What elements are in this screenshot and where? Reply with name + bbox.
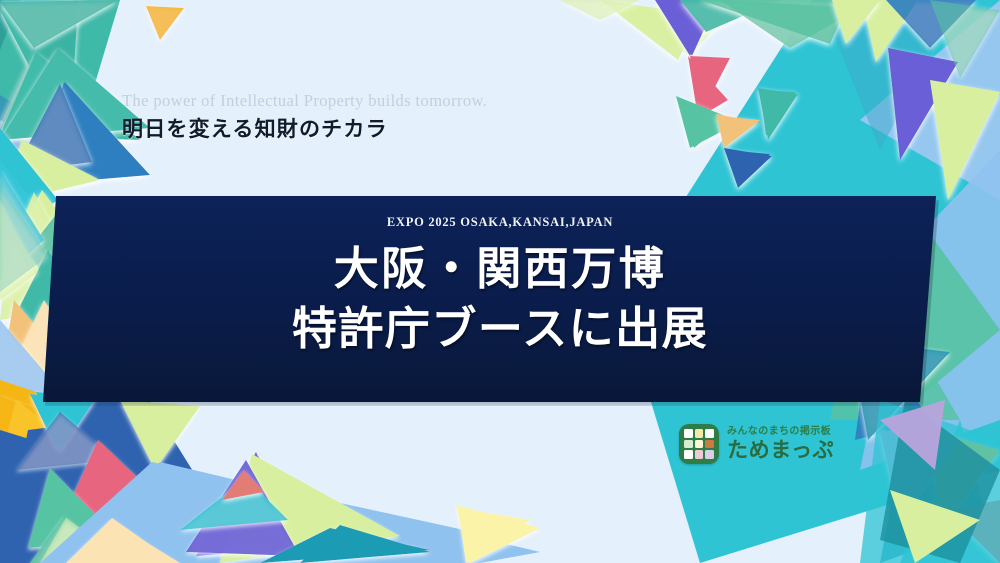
tagline-japanese: 明日を変える知財のチカラ bbox=[122, 115, 487, 142]
icon-tile bbox=[695, 429, 704, 438]
banner-headline: 大阪・関西万博 特許庁ブースに出展 bbox=[292, 239, 708, 359]
headline-line-1: 大阪・関西万博 bbox=[292, 239, 708, 299]
icon-tile bbox=[684, 429, 693, 438]
icon-tile bbox=[684, 450, 693, 459]
icon-tile bbox=[705, 429, 714, 438]
promo-banner-canvas: The power of Intellectual Property build… bbox=[0, 0, 1000, 563]
icon-tile bbox=[705, 440, 714, 449]
logo-wordmark: ためまっぷ bbox=[727, 438, 834, 462]
icon-tile bbox=[695, 440, 704, 449]
tagline-english: The power of Intellectual Property build… bbox=[122, 90, 487, 112]
icon-tile bbox=[705, 450, 714, 459]
banner-content: EXPO 2025 OSAKA,KANSAI,JAPAN 大阪・関西万博 特許庁… bbox=[0, 196, 1000, 402]
tamemap-logo[interactable]: みんなのまちの掲示板 ためまっぷ bbox=[679, 424, 834, 464]
logo-subtitle: みんなのまちの掲示板 bbox=[727, 426, 834, 437]
tamemap-app-icon bbox=[679, 424, 719, 464]
logo-text-block: みんなのまちの掲示板 ためまっぷ bbox=[727, 426, 834, 462]
tagline-block: The power of Intellectual Property build… bbox=[122, 90, 487, 143]
expo-eyebrow-text: EXPO 2025 OSAKA,KANSAI,JAPAN bbox=[387, 215, 613, 230]
icon-tile bbox=[695, 450, 704, 459]
icon-tile bbox=[684, 440, 693, 449]
headline-line-2: 特許庁ブースに出展 bbox=[292, 299, 708, 359]
headline-banner: EXPO 2025 OSAKA,KANSAI,JAPAN 大阪・関西万博 特許庁… bbox=[0, 196, 1000, 402]
icon-tile-grid bbox=[684, 429, 714, 459]
